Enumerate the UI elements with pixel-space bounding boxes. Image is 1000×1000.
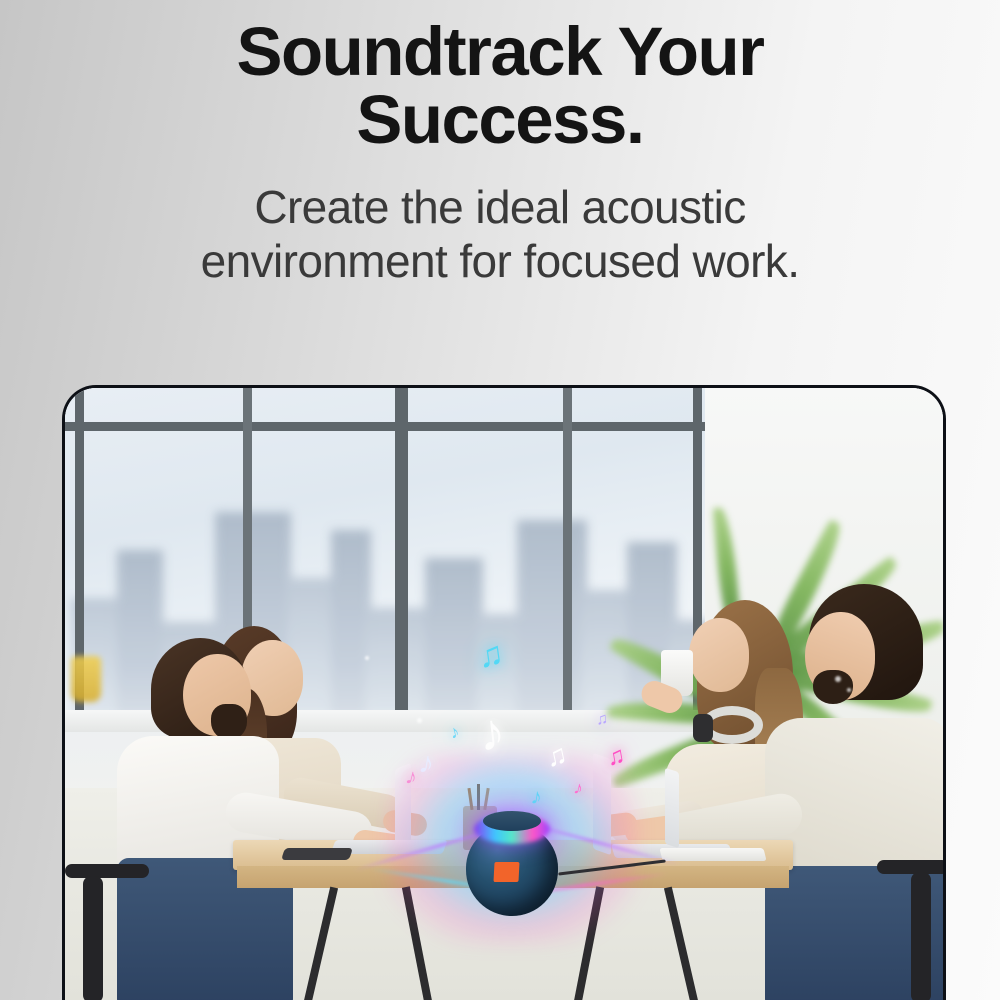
sparkle-icon: [835, 676, 841, 682]
office-chair: [877, 860, 943, 874]
page-subtitle: Create the ideal acoustic environment fo…: [0, 180, 1000, 289]
laptop: [665, 768, 679, 849]
music-note-icon: ♫: [605, 744, 627, 771]
promo-header: Soundtrack Your Success. Create the idea…: [0, 0, 1000, 289]
hero-photo-card: ♫♪♪♫♪♫♪♪♪♫: [62, 385, 946, 1000]
sparkle-icon: [417, 718, 422, 723]
music-note-icon: ♫: [476, 636, 506, 673]
page-title: Soundtrack Your Success.: [0, 18, 1000, 153]
window-mullion-3: [563, 388, 572, 718]
sparkle-icon: [365, 656, 369, 660]
smartphone: [281, 848, 353, 860]
smart-speaker: [458, 806, 566, 918]
sparkle-icon: [847, 688, 851, 692]
speaker-brand-badge: [493, 862, 519, 882]
speaker-top-cap: [483, 811, 541, 831]
music-note-icon: ♪: [476, 706, 507, 760]
windowsill-pot-icon: [71, 656, 101, 702]
music-note-icon: ♫: [595, 711, 609, 728]
office-chair: [65, 864, 149, 878]
window-mullion-2: [395, 388, 408, 718]
hero-photo: ♫♪♪♫♪♫♪♪♪♫: [65, 388, 943, 1000]
